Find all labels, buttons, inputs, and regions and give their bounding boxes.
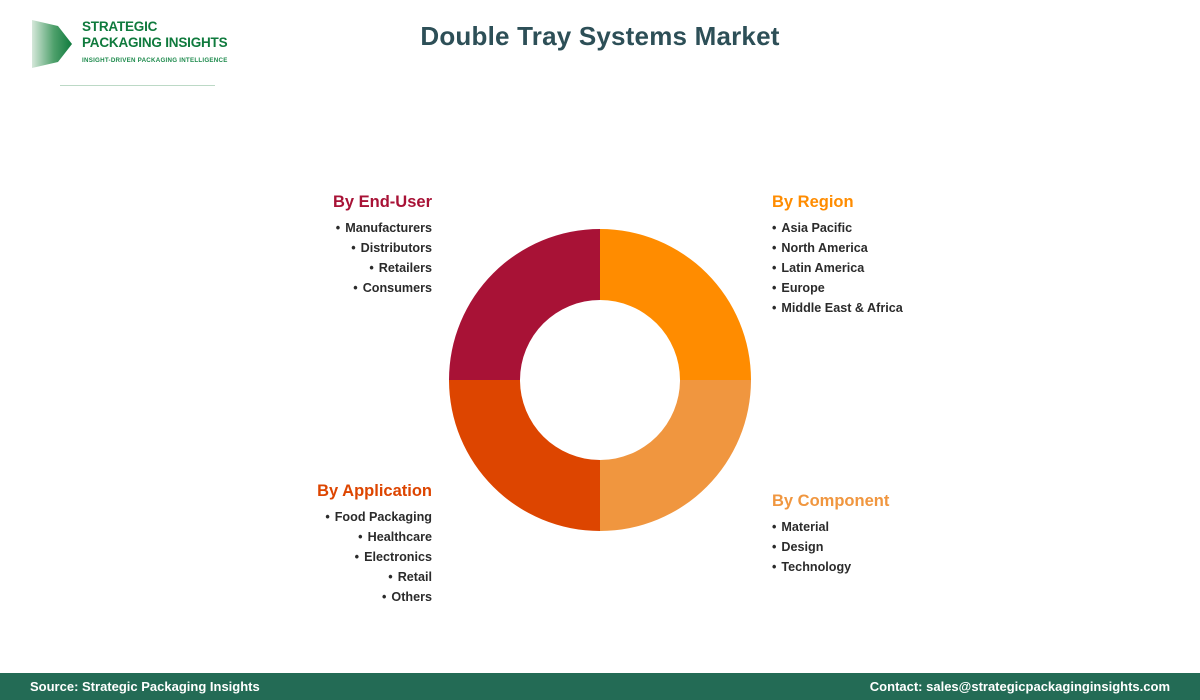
list-item: •Material	[772, 517, 1032, 537]
list-item-label: Design	[781, 540, 823, 554]
list-item-label: Asia Pacific	[781, 221, 852, 235]
bullet-icon: •	[355, 550, 359, 564]
list-item-label: Food Packaging	[335, 510, 432, 524]
list-item-label: Retail	[398, 570, 432, 584]
bullet-icon: •	[388, 570, 392, 584]
list-item-label: Consumers	[363, 281, 432, 295]
segment-block-region: By Region •Asia Pacific •North America •…	[772, 193, 1032, 318]
bullet-icon: •	[772, 281, 776, 295]
list-item: •Manufacturers	[200, 218, 432, 238]
list-item: •Middle East & Africa	[772, 298, 1032, 318]
segment-list-region: •Asia Pacific •North America •Latin Amer…	[772, 218, 1032, 318]
bullet-icon: •	[358, 530, 362, 544]
list-item-label: Middle East & Africa	[781, 301, 902, 315]
segment-heading-end-user: By End-User	[200, 193, 432, 212]
page-title: Double Tray Systems Market	[0, 21, 1200, 52]
segment-block-application: By Application •Food Packaging •Healthca…	[190, 482, 432, 607]
list-item-label: Manufacturers	[345, 221, 432, 235]
list-item: •Retail	[190, 567, 432, 587]
footer-contact: Contact: sales@strategicpackaginginsight…	[870, 679, 1170, 694]
bullet-icon: •	[351, 241, 355, 255]
bullet-icon: •	[353, 281, 357, 295]
donut-slice-component	[600, 380, 751, 531]
list-item: •Distributors	[200, 238, 432, 258]
list-item: •Asia Pacific	[772, 218, 1032, 238]
bullet-icon: •	[772, 301, 776, 315]
donut-chart	[449, 229, 751, 531]
list-item-label: Latin America	[781, 261, 864, 275]
bullet-icon: •	[325, 510, 329, 524]
list-item: •Healthcare	[190, 527, 432, 547]
segment-list-end-user: •Manufacturers •Distributors •Retailers …	[200, 218, 432, 298]
segment-list-component: •Material •Design •Technology	[772, 517, 1032, 577]
list-item: •Europe	[772, 278, 1032, 298]
list-item: •Retailers	[200, 258, 432, 278]
segment-heading-component: By Component	[772, 492, 1032, 511]
logo-tagline: INSIGHT-DRIVEN PACKAGING INTELLIGENCE	[82, 57, 217, 64]
list-item-label: Material	[781, 520, 829, 534]
list-item-label: Technology	[781, 560, 851, 574]
list-item: •Design	[772, 537, 1032, 557]
donut-slice-end-user	[449, 229, 600, 380]
footer-source: Source: Strategic Packaging Insights	[30, 679, 260, 694]
list-item-label: Electronics	[364, 550, 432, 564]
segment-block-component: By Component •Material •Design •Technolo…	[772, 492, 1032, 577]
list-item: •Food Packaging	[190, 507, 432, 527]
segment-heading-region: By Region	[772, 193, 1032, 212]
list-item-label: Europe	[781, 281, 824, 295]
bullet-icon: •	[772, 261, 776, 275]
segment-list-application: •Food Packaging •Healthcare •Electronics…	[190, 507, 432, 607]
list-item: •North America	[772, 238, 1032, 258]
list-item: •Others	[190, 587, 432, 607]
list-item: •Consumers	[200, 278, 432, 298]
bullet-icon: •	[772, 241, 776, 255]
donut-slice-region	[600, 229, 751, 380]
bullet-icon: •	[382, 590, 386, 604]
list-item: •Latin America	[772, 258, 1032, 278]
bullet-icon: •	[772, 540, 776, 554]
segment-block-end-user: By End-User •Manufacturers •Distributors…	[200, 193, 432, 298]
footer-bar: Source: Strategic Packaging Insights Con…	[0, 673, 1200, 700]
bullet-icon: •	[369, 261, 373, 275]
donut-slice-application	[449, 380, 600, 531]
bullet-icon: •	[336, 221, 340, 235]
list-item-label: Others	[391, 590, 432, 604]
list-item-label: Retailers	[379, 261, 432, 275]
list-item: •Electronics	[190, 547, 432, 567]
bullet-icon: •	[772, 520, 776, 534]
bullet-icon: •	[772, 221, 776, 235]
list-item-label: Healthcare	[368, 530, 432, 544]
list-item-label: Distributors	[361, 241, 432, 255]
list-item: •Technology	[772, 557, 1032, 577]
list-item-label: North America	[781, 241, 867, 255]
bullet-icon: •	[772, 560, 776, 574]
logo-divider	[60, 85, 215, 86]
segment-heading-application: By Application	[190, 482, 432, 501]
